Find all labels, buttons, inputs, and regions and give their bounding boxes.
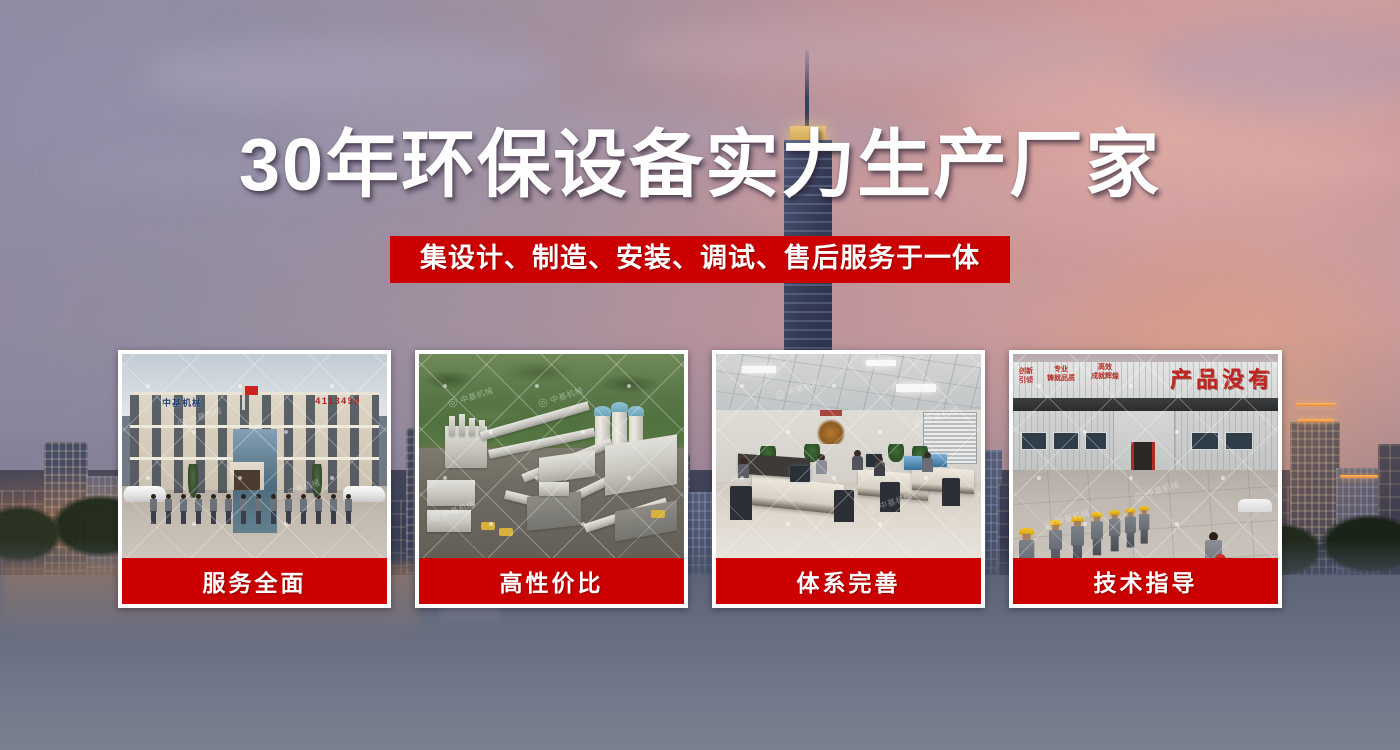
flagpole xyxy=(242,384,245,410)
company-headquarters-photo: 中基机械 4113456 xyxy=(122,354,387,558)
feature-card-training[interactable]: 产品没有 创新引领 专业铸就品质 高效成就辉煌 xyxy=(1009,350,1282,608)
card-caption: 服务全面 xyxy=(122,558,387,604)
facade-trim-band xyxy=(1013,398,1278,411)
ceiling-light xyxy=(896,384,936,392)
wall-decal xyxy=(814,416,848,444)
subtitle-text: 集设计、制造、安装、调试、售后服务于一体 xyxy=(390,236,1010,283)
plant-shed xyxy=(539,482,569,496)
company-signage: 中基机械 xyxy=(162,396,202,409)
workshop-training-photo: 产品没有 创新引领 专业铸就品质 高效成就辉煌 xyxy=(1013,354,1278,558)
employee xyxy=(816,454,827,476)
factory-wall-slogan: 产品没有 xyxy=(1170,362,1274,394)
employee xyxy=(874,456,885,478)
excavator xyxy=(481,522,495,530)
chair xyxy=(834,490,854,522)
silo-dome xyxy=(628,406,644,416)
card-caption: 高性价比 xyxy=(419,558,684,604)
ceiling-light xyxy=(742,366,776,373)
stack xyxy=(449,416,455,436)
promo-banner: 30年环保设备实力生产厂家 集设计、制造、安装、调试、售后服务于一体 中基机械 … xyxy=(0,0,1400,750)
subtitle-bar: 集设计、制造、安装、调试、售后服务于一体 xyxy=(0,236,1400,283)
employee xyxy=(738,458,749,480)
neon-light xyxy=(1298,419,1334,422)
employee xyxy=(852,450,863,472)
building-entrance xyxy=(230,462,264,490)
staff-lineup xyxy=(150,490,362,524)
card-caption: 技术指导 xyxy=(1013,558,1278,604)
factory-window xyxy=(1021,432,1047,450)
monitor xyxy=(790,466,810,482)
factory-window xyxy=(1085,432,1107,450)
excavator xyxy=(651,510,665,518)
chair xyxy=(942,478,960,506)
card-caption: 体系完善 xyxy=(716,558,981,604)
feature-card-row: 中基机械 4113456 xyxy=(118,350,1282,608)
chair xyxy=(730,486,752,520)
ceiling-light xyxy=(866,360,896,366)
stack xyxy=(469,418,475,436)
factory-doorway xyxy=(1131,442,1155,472)
neon-light xyxy=(1296,403,1336,406)
ceiling xyxy=(716,354,981,412)
silo-dome xyxy=(594,406,611,416)
employee xyxy=(922,452,933,474)
silo-dome xyxy=(611,402,628,412)
monitor xyxy=(904,456,922,470)
feature-card-service[interactable]: 中基机械 4113456 xyxy=(118,350,391,608)
factory-window xyxy=(1191,432,1219,450)
chair xyxy=(880,482,900,512)
wall-slogan-small: 专业铸就品质 xyxy=(1047,366,1075,384)
headline: 30年环保设备实力生产厂家 xyxy=(0,128,1400,202)
excavator xyxy=(499,528,513,536)
tower-spire xyxy=(805,50,809,130)
wall-slogan-small: 高效成就辉煌 xyxy=(1091,364,1119,382)
factory-window xyxy=(1053,432,1079,450)
parked-car xyxy=(1238,499,1272,512)
wall-slogan-small: 创新引领 xyxy=(1019,368,1033,386)
stack xyxy=(459,414,465,436)
phone-number-signage: 4113456 xyxy=(315,396,361,406)
warehouse xyxy=(527,491,581,531)
potted-plant xyxy=(888,444,904,462)
red-helmet xyxy=(1215,554,1226,558)
office-block xyxy=(427,510,471,532)
office-interior-photo: ◎ 中基机械 ◎ 中基机械 ◎ 中基机械 xyxy=(716,354,981,558)
feature-card-value[interactable]: ◎ 中基机械 ◎ 中基机械 ◎ 中基机械 高性价比 xyxy=(415,350,688,608)
production-plant-aerial-photo: ◎ 中基机械 ◎ 中基机械 ◎ 中基机械 xyxy=(419,354,684,558)
feature-card-system[interactable]: ◎ 中基机械 ◎ 中基机械 ◎ 中基机械 体系完善 xyxy=(712,350,985,608)
factory-window xyxy=(1225,432,1253,450)
office-block xyxy=(427,480,475,506)
